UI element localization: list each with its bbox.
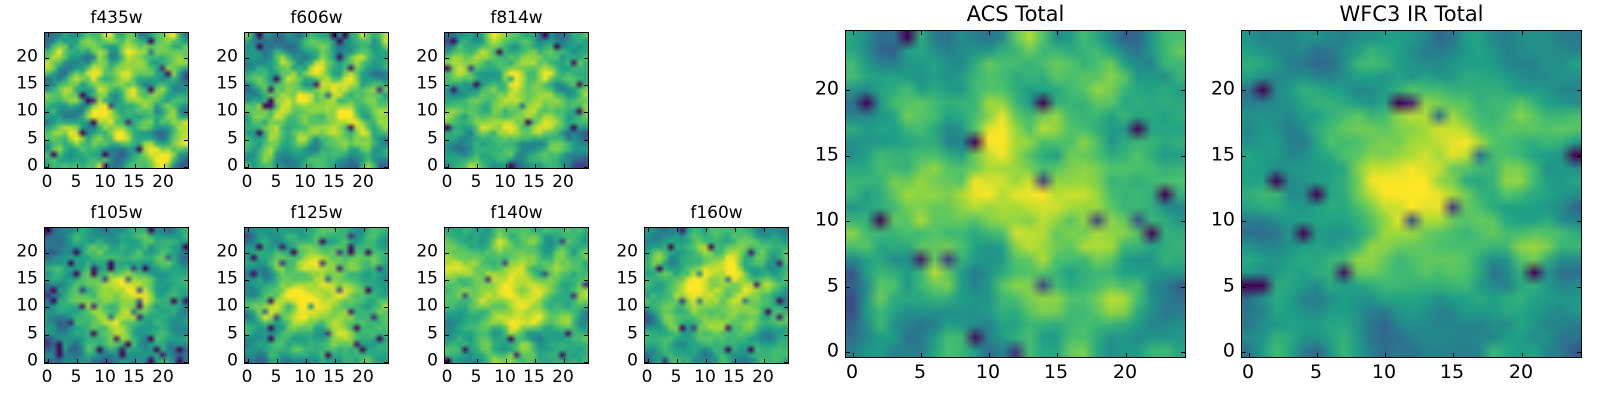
- panel-title-acs-total: ACS Total: [845, 2, 1186, 26]
- xtick-mark: [677, 359, 678, 363]
- xtick-mark-top: [48, 228, 49, 232]
- ytick-label: 5: [627, 325, 638, 344]
- xtick-label: 15: [523, 368, 545, 387]
- ytick-mark: [45, 85, 49, 86]
- xtick-label: 10: [976, 362, 1000, 383]
- xtick-mark-top: [277, 228, 278, 232]
- xtick-label: 5: [914, 362, 926, 383]
- ytick-mark: [1242, 287, 1246, 288]
- xtick-mark-top: [135, 33, 136, 37]
- ytick-mark: [1242, 156, 1246, 157]
- xtick-mark-top: [506, 228, 507, 232]
- ytick-mark-right: [584, 307, 588, 308]
- xtick-mark-top: [506, 33, 507, 37]
- ytick-mark-right: [1577, 221, 1581, 222]
- ytick-label: 15: [16, 270, 38, 289]
- xtick-label: 10: [694, 368, 716, 387]
- ytick-mark: [445, 280, 449, 281]
- ytick-mark: [45, 140, 49, 141]
- xtick-mark-top: [335, 228, 336, 232]
- panel-title-f125w: f125w: [244, 203, 389, 223]
- xtick-mark-top: [1126, 31, 1127, 35]
- panel-f105w: f105w0510152005101520: [44, 227, 189, 364]
- ytick-mark-right: [184, 280, 188, 281]
- ytick-mark: [846, 90, 850, 91]
- ytick-mark-right: [584, 335, 588, 336]
- ytick-mark: [245, 140, 249, 141]
- ytick-mark-right: [384, 335, 388, 336]
- xtick-label: 0: [1242, 362, 1254, 383]
- panel-title-f435w: f435w: [44, 8, 189, 28]
- xtick-mark: [77, 164, 78, 168]
- xtick-mark-top: [364, 33, 365, 37]
- xtick-mark-top: [335, 33, 336, 37]
- ytick-mark: [445, 167, 449, 168]
- ytick-label: 20: [216, 243, 238, 262]
- xtick-label: 20: [752, 368, 774, 387]
- ytick-mark-right: [784, 253, 788, 254]
- xtick-mark: [735, 359, 736, 363]
- panel-title-f160w: f160w: [644, 203, 789, 223]
- xtick-mark: [364, 359, 365, 363]
- ytick-label: 20: [216, 48, 238, 67]
- xtick-mark: [164, 359, 165, 363]
- xtick-mark: [1522, 353, 1523, 357]
- xtick-mark-top: [364, 228, 365, 232]
- xtick-label: 0: [642, 368, 653, 387]
- ytick-label: 0: [227, 157, 238, 176]
- ytick-label: 10: [1211, 210, 1235, 231]
- xtick-label: 5: [1310, 362, 1322, 383]
- ytick-mark-right: [1577, 90, 1581, 91]
- ytick-label: 5: [227, 130, 238, 149]
- ytick-mark: [245, 167, 249, 168]
- xtick-mark-top: [164, 33, 165, 37]
- ytick-mark-right: [184, 112, 188, 113]
- ytick-mark-right: [384, 362, 388, 363]
- ytick-mark-right: [384, 112, 388, 113]
- xtick-label: 5: [471, 173, 482, 192]
- axes-f105w: [44, 227, 189, 364]
- ytick-mark: [846, 352, 850, 353]
- xtick-label: 15: [323, 368, 345, 387]
- xtick-label: 0: [442, 368, 453, 387]
- xtick-label: 15: [123, 173, 145, 192]
- ytick-mark-right: [184, 362, 188, 363]
- ytick-mark-right: [1181, 90, 1185, 91]
- ytick-label: 5: [1223, 276, 1235, 297]
- xtick-label: 10: [494, 173, 516, 192]
- ytick-mark-right: [584, 85, 588, 86]
- panel-f606w: f606w0510152005101520: [244, 32, 389, 169]
- ytick-mark: [45, 58, 49, 59]
- ytick-mark: [245, 85, 249, 86]
- axes-f814w: [444, 32, 589, 169]
- xtick-label: 10: [94, 173, 116, 192]
- ytick-mark: [445, 112, 449, 113]
- xtick-label: 5: [71, 173, 82, 192]
- xtick-mark-top: [277, 33, 278, 37]
- ytick-label: 0: [27, 352, 38, 371]
- xtick-mark-top: [1522, 31, 1523, 35]
- ytick-mark: [245, 112, 249, 113]
- xtick-label: 20: [352, 173, 374, 192]
- axes-f160w: [644, 227, 789, 364]
- xtick-mark: [306, 164, 307, 168]
- ytick-mark-right: [784, 280, 788, 281]
- heatmap-image-f140w: [445, 228, 588, 363]
- ytick-mark: [445, 140, 449, 141]
- xtick-mark-top: [1385, 31, 1386, 35]
- panel-f140w: f140w0510152005101520: [444, 227, 589, 364]
- panel-f160w: f160w0510152005101520: [644, 227, 789, 364]
- xtick-mark-top: [648, 228, 649, 232]
- ytick-label: 0: [227, 352, 238, 371]
- xtick-label: 0: [42, 368, 53, 387]
- ytick-mark-right: [784, 362, 788, 363]
- xtick-mark-top: [106, 33, 107, 37]
- ytick-mark: [645, 307, 649, 308]
- xtick-mark: [1126, 353, 1127, 357]
- panel-f814w: f814w0510152005101520: [444, 32, 589, 169]
- ytick-mark-right: [1577, 287, 1581, 288]
- ytick-mark: [445, 307, 449, 308]
- xtick-label: 0: [846, 362, 858, 383]
- ytick-label: 0: [427, 352, 438, 371]
- ytick-mark-right: [384, 253, 388, 254]
- xtick-mark: [1057, 353, 1058, 357]
- xtick-label: 10: [1372, 362, 1396, 383]
- ytick-mark: [846, 287, 850, 288]
- panel-f435w: f435w0510152005101520: [44, 32, 189, 169]
- xtick-mark: [106, 164, 107, 168]
- ytick-mark: [1242, 352, 1246, 353]
- ytick-mark: [45, 280, 49, 281]
- ytick-label: 20: [1211, 79, 1235, 100]
- xtick-mark-top: [677, 228, 678, 232]
- ytick-label: 15: [416, 75, 438, 94]
- xtick-mark-top: [535, 228, 536, 232]
- ytick-label: 15: [216, 270, 238, 289]
- panel-f125w: f125w0510152005101520: [244, 227, 389, 364]
- axes-f435w: [44, 32, 189, 169]
- ytick-label: 0: [427, 157, 438, 176]
- xtick-mark: [564, 164, 565, 168]
- xtick-mark-top: [921, 31, 922, 35]
- xtick-label: 5: [71, 368, 82, 387]
- panel-acs-total: ACS Total0510152005101520: [845, 30, 1186, 358]
- axes-f140w: [444, 227, 589, 364]
- xtick-mark: [77, 359, 78, 363]
- ytick-mark-right: [384, 167, 388, 168]
- ytick-mark: [445, 58, 449, 59]
- ytick-mark: [645, 362, 649, 363]
- ytick-mark-right: [384, 85, 388, 86]
- xtick-mark-top: [989, 31, 990, 35]
- figure-canvas: f435w0510152005101520f606w05101520051015…: [0, 0, 1600, 400]
- heatmap-image-f606w: [245, 33, 388, 168]
- ytick-label: 10: [416, 102, 438, 121]
- ytick-label: 15: [216, 75, 238, 94]
- ytick-mark: [645, 280, 649, 281]
- ytick-mark: [245, 280, 249, 281]
- xtick-mark: [135, 164, 136, 168]
- ytick-mark: [245, 307, 249, 308]
- ytick-mark: [45, 362, 49, 363]
- ytick-mark: [45, 167, 49, 168]
- panel-wfc3-ir-total: WFC3 IR Total0510152005101520: [1241, 30, 1582, 358]
- xtick-mark: [135, 359, 136, 363]
- xtick-mark-top: [535, 33, 536, 37]
- ytick-label: 20: [616, 243, 638, 262]
- xtick-mark-top: [853, 31, 854, 35]
- ytick-mark-right: [1181, 352, 1185, 353]
- xtick-label: 20: [152, 173, 174, 192]
- ytick-label: 5: [27, 325, 38, 344]
- ytick-mark-right: [784, 335, 788, 336]
- ytick-mark-right: [184, 167, 188, 168]
- ytick-mark-right: [1577, 352, 1581, 353]
- ytick-mark-right: [184, 307, 188, 308]
- ytick-mark: [45, 112, 49, 113]
- xtick-mark: [506, 359, 507, 363]
- panel-title-f814w: f814w: [444, 8, 589, 28]
- xtick-mark: [506, 164, 507, 168]
- ytick-label: 15: [416, 270, 438, 289]
- xtick-mark: [335, 359, 336, 363]
- panel-title-f140w: f140w: [444, 203, 589, 223]
- xtick-mark: [564, 359, 565, 363]
- xtick-mark-top: [306, 228, 307, 232]
- xtick-label: 5: [471, 368, 482, 387]
- heatmap-image-f814w: [445, 33, 588, 168]
- xtick-mark-top: [77, 228, 78, 232]
- ytick-mark: [846, 156, 850, 157]
- panel-title-wfc3-ir-total: WFC3 IR Total: [1241, 2, 1582, 26]
- ytick-mark: [45, 253, 49, 254]
- ytick-label: 20: [416, 243, 438, 262]
- ytick-label: 15: [16, 75, 38, 94]
- xtick-mark-top: [306, 33, 307, 37]
- ytick-label: 20: [416, 48, 438, 67]
- ytick-label: 5: [227, 325, 238, 344]
- xtick-mark-top: [248, 33, 249, 37]
- ytick-label: 10: [416, 297, 438, 316]
- ytick-mark: [245, 362, 249, 363]
- ytick-mark-right: [1181, 221, 1185, 222]
- ytick-label: 20: [16, 243, 38, 262]
- xtick-mark: [921, 353, 922, 357]
- ytick-mark: [645, 335, 649, 336]
- xtick-mark-top: [477, 33, 478, 37]
- xtick-label: 15: [723, 368, 745, 387]
- xtick-label: 20: [352, 368, 374, 387]
- panel-title-f105w: f105w: [44, 203, 189, 223]
- ytick-mark-right: [384, 140, 388, 141]
- ytick-mark-right: [184, 140, 188, 141]
- xtick-label: 20: [552, 173, 574, 192]
- xtick-label: 20: [1113, 362, 1137, 383]
- xtick-mark: [989, 353, 990, 357]
- ytick-label: 0: [1223, 341, 1235, 362]
- heatmap-image-wfc3-ir-total: [1242, 31, 1581, 357]
- xtick-mark-top: [1317, 31, 1318, 35]
- xtick-mark-top: [564, 228, 565, 232]
- xtick-mark-top: [164, 228, 165, 232]
- xtick-mark-top: [448, 33, 449, 37]
- ytick-mark-right: [784, 307, 788, 308]
- ytick-label: 10: [16, 297, 38, 316]
- xtick-mark-top: [248, 228, 249, 232]
- xtick-mark: [164, 164, 165, 168]
- xtick-mark: [1317, 353, 1318, 357]
- ytick-mark: [645, 253, 649, 254]
- xtick-mark: [535, 164, 536, 168]
- ytick-mark: [445, 85, 449, 86]
- xtick-mark: [106, 359, 107, 363]
- xtick-mark-top: [564, 33, 565, 37]
- xtick-label: 5: [271, 368, 282, 387]
- ytick-mark: [45, 307, 49, 308]
- xtick-mark: [277, 164, 278, 168]
- ytick-mark-right: [1577, 156, 1581, 157]
- ytick-label: 10: [216, 102, 238, 121]
- axes-wfc3-ir-total: [1241, 30, 1582, 358]
- heatmap-image-f105w: [45, 228, 188, 363]
- xtick-mark: [477, 359, 478, 363]
- xtick-label: 10: [494, 368, 516, 387]
- xtick-label: 15: [123, 368, 145, 387]
- ytick-mark-right: [584, 58, 588, 59]
- xtick-mark-top: [1453, 31, 1454, 35]
- ytick-mark: [846, 221, 850, 222]
- ytick-mark-right: [584, 112, 588, 113]
- ytick-mark-right: [584, 167, 588, 168]
- xtick-mark-top: [448, 228, 449, 232]
- ytick-label: 15: [616, 270, 638, 289]
- ytick-mark: [245, 335, 249, 336]
- xtick-label: 5: [271, 173, 282, 192]
- ytick-mark: [245, 253, 249, 254]
- xtick-mark: [306, 359, 307, 363]
- xtick-mark: [364, 164, 365, 168]
- ytick-mark: [1242, 221, 1246, 222]
- xtick-label: 15: [1044, 362, 1068, 383]
- xtick-label: 15: [523, 173, 545, 192]
- ytick-mark: [45, 335, 49, 336]
- ytick-mark-right: [184, 253, 188, 254]
- xtick-label: 15: [323, 173, 345, 192]
- ytick-label: 15: [815, 145, 839, 166]
- xtick-mark: [477, 164, 478, 168]
- xtick-mark-top: [477, 228, 478, 232]
- xtick-label: 20: [1509, 362, 1533, 383]
- xtick-label: 10: [294, 368, 316, 387]
- ytick-mark-right: [584, 140, 588, 141]
- xtick-label: 20: [552, 368, 574, 387]
- ytick-mark-right: [384, 280, 388, 281]
- ytick-label: 15: [1211, 145, 1235, 166]
- axes-f606w: [244, 32, 389, 169]
- ytick-mark: [1242, 90, 1246, 91]
- xtick-label: 5: [671, 368, 682, 387]
- ytick-label: 20: [16, 48, 38, 67]
- ytick-label: 5: [27, 130, 38, 149]
- xtick-mark: [1249, 353, 1250, 357]
- xtick-mark-top: [106, 228, 107, 232]
- ytick-label: 10: [216, 297, 238, 316]
- heatmap-image-acs-total: [846, 31, 1185, 357]
- ytick-label: 5: [427, 130, 438, 149]
- heatmap-image-f160w: [645, 228, 788, 363]
- ytick-mark-right: [184, 85, 188, 86]
- xtick-mark: [706, 359, 707, 363]
- panel-title-f606w: f606w: [244, 8, 389, 28]
- xtick-mark-top: [48, 33, 49, 37]
- xtick-label: 0: [242, 368, 253, 387]
- ytick-label: 10: [16, 102, 38, 121]
- heatmap-image-f435w: [45, 33, 188, 168]
- ytick-label: 0: [827, 341, 839, 362]
- xtick-label: 0: [242, 173, 253, 192]
- xtick-mark: [1453, 353, 1454, 357]
- ytick-mark-right: [184, 335, 188, 336]
- ytick-mark-right: [584, 362, 588, 363]
- ytick-mark-right: [584, 280, 588, 281]
- xtick-mark: [335, 164, 336, 168]
- xtick-label: 10: [294, 173, 316, 192]
- ytick-mark-right: [384, 58, 388, 59]
- ytick-mark-right: [384, 307, 388, 308]
- ytick-mark: [445, 253, 449, 254]
- heatmap-image-f125w: [245, 228, 388, 363]
- ytick-label: 0: [27, 157, 38, 176]
- ytick-mark-right: [1181, 156, 1185, 157]
- xtick-mark-top: [735, 228, 736, 232]
- xtick-mark-top: [1249, 31, 1250, 35]
- ytick-mark: [245, 58, 249, 59]
- xtick-mark-top: [706, 228, 707, 232]
- ytick-label: 5: [827, 276, 839, 297]
- ytick-label: 5: [427, 325, 438, 344]
- xtick-mark: [277, 359, 278, 363]
- ytick-mark-right: [184, 58, 188, 59]
- xtick-label: 0: [42, 173, 53, 192]
- ytick-label: 10: [616, 297, 638, 316]
- ytick-mark: [445, 335, 449, 336]
- axes-acs-total: [845, 30, 1186, 358]
- xtick-mark: [1385, 353, 1386, 357]
- xtick-label: 10: [94, 368, 116, 387]
- xtick-mark: [535, 359, 536, 363]
- xtick-label: 0: [442, 173, 453, 192]
- xtick-mark-top: [1057, 31, 1058, 35]
- xtick-label: 20: [152, 368, 174, 387]
- xtick-mark-top: [77, 33, 78, 37]
- ytick-mark-right: [1181, 287, 1185, 288]
- ytick-label: 0: [627, 352, 638, 371]
- axes-f125w: [244, 227, 389, 364]
- xtick-mark: [853, 353, 854, 357]
- ytick-mark: [445, 362, 449, 363]
- xtick-mark-top: [135, 228, 136, 232]
- xtick-mark: [764, 359, 765, 363]
- xtick-label: 15: [1440, 362, 1464, 383]
- ytick-label: 10: [815, 210, 839, 231]
- xtick-mark-top: [764, 228, 765, 232]
- ytick-mark-right: [584, 253, 588, 254]
- ytick-label: 20: [815, 79, 839, 100]
